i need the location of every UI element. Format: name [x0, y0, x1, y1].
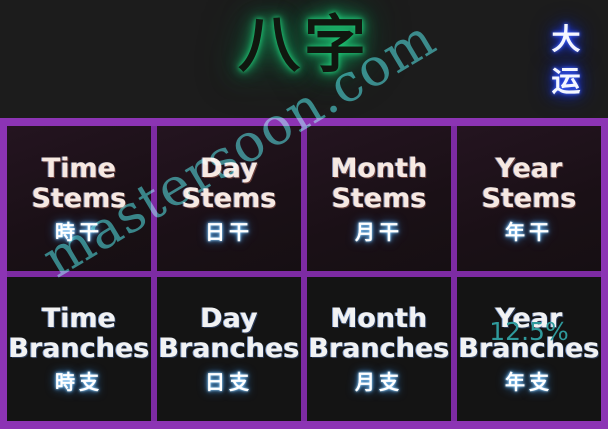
cell-label-line-2: Branches — [309, 334, 450, 364]
cell-label-cn: 日干 — [205, 221, 253, 243]
cell-time-branches[interactable]: Time Branches 時支 — [7, 277, 151, 422]
cell-day-stems[interactable]: Day Stems 日干 — [157, 126, 301, 271]
cell-label-cn: 時支 — [55, 371, 103, 393]
cell-label-cn: 月干 — [355, 221, 403, 243]
cell-label-en: Day Branches — [159, 304, 300, 364]
cell-label-en: Day Stems — [182, 154, 277, 214]
header: 八字 大 运 — [0, 0, 608, 120]
cell-label-cn: 月支 — [355, 371, 403, 393]
cell-label-en: Month Stems — [331, 154, 428, 214]
cell-label-line-1: Year — [459, 304, 600, 334]
cell-time-stems[interactable]: Time Stems 時干 — [7, 126, 151, 271]
bazi-grid: Time Stems 時干 Day Stems 日干 Month Stems 月… — [0, 118, 608, 429]
cell-label-line-1: Day — [182, 154, 277, 184]
cell-label-en: Time Stems — [32, 154, 127, 214]
cell-label-cn: 日支 — [205, 371, 253, 393]
cell-label-en: Year Stems — [482, 154, 577, 214]
cell-label-line-1: Month — [331, 154, 428, 184]
luck-cycle-label: 大 运 — [538, 18, 594, 102]
cell-label-line-1: Year — [482, 154, 577, 184]
cell-label-line-1: Month — [309, 304, 450, 334]
cell-label-cn: 時干 — [55, 221, 103, 243]
cell-label-cn: 年支 — [505, 371, 553, 393]
cell-label-cn: 年干 — [505, 221, 553, 243]
cell-month-branches[interactable]: Month Branches 月支 — [307, 277, 451, 422]
cell-label-line-2: Stems — [482, 184, 577, 214]
cell-label-line-2: Branches — [9, 334, 150, 364]
cell-day-branches[interactable]: Day Branches 日支 — [157, 277, 301, 422]
cell-year-stems[interactable]: Year Stems 年干 — [457, 126, 601, 271]
cell-label-line-2: Stems — [331, 184, 428, 214]
cell-label-en: Time Branches — [9, 304, 150, 364]
cell-label-en: Month Branches — [309, 304, 450, 364]
luck-cycle-label-char-2: 运 — [538, 60, 594, 102]
bazi-chart-root: 八字 大 运 Time Stems 時干 Day Stems 日干 Month … — [0, 0, 608, 429]
cell-year-branches[interactable]: Year Branches 年支 12.5% — [457, 277, 601, 422]
cell-label-line-2: Stems — [32, 184, 127, 214]
cell-label-en: Year Branches — [459, 304, 600, 364]
cell-month-stems[interactable]: Month Stems 月干 — [307, 126, 451, 271]
page-title: 八字 — [0, 2, 608, 88]
cell-label-line-2: Branches — [159, 334, 300, 364]
cell-label-line-1: Day — [159, 304, 300, 334]
cell-label-line-1: Time — [32, 154, 127, 184]
cell-label-line-2: Stems — [182, 184, 277, 214]
cell-label-line-1: Time — [9, 304, 150, 334]
cell-label-line-2: Branches — [459, 334, 600, 364]
luck-cycle-label-char-1: 大 — [538, 18, 594, 60]
